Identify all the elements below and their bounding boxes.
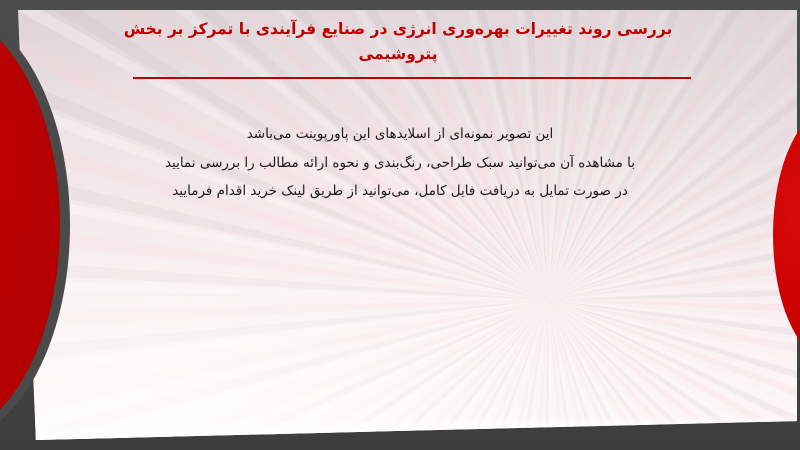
body-line-1: این تصویر نمونه‌ای از اسلایدهای این پاور… (120, 120, 680, 149)
body-line-3: در صورت تمایل به دریافت فایل کامل، می‌تو… (120, 177, 680, 206)
slide-body-text: این تصویر نمونه‌ای از اسلایدهای این پاور… (120, 120, 680, 206)
background-tint-overlay (18, 10, 797, 440)
slide-title: بررسی روند تغییرات بهره‌وری انرژی در صنا… (114, 17, 682, 67)
background-stripes-decoration (18, 10, 797, 440)
body-line-2: با مشاهده آن می‌توانید سبک طراحی، رنگ‌بن… (120, 149, 680, 178)
slide-canvas: بررسی روند تغییرات بهره‌وری انرژی در صنا… (0, 0, 800, 450)
title-underline-rule (133, 77, 691, 79)
slide-content-panel (18, 10, 797, 440)
